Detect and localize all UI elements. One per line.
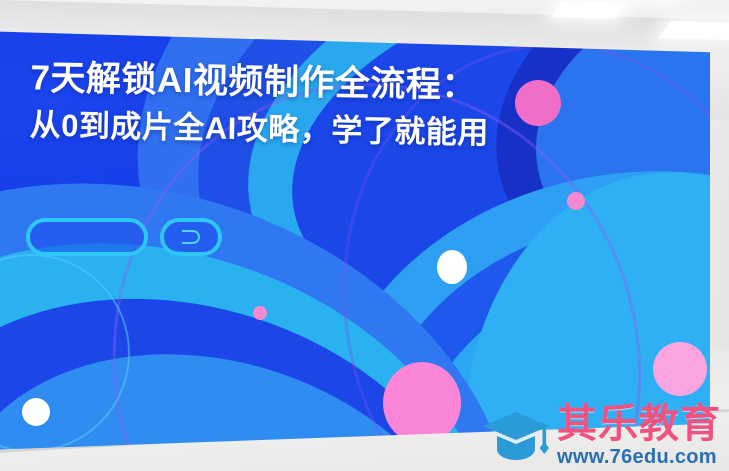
pink-circle-decoration	[653, 342, 707, 396]
pill-decoration-wide	[26, 218, 148, 256]
screenshot-stage: 7天解锁AI视频制作全流程： 从0到成片全AI攻略，学了就能用 其乐教育 www…	[0, 0, 729, 471]
arrow-glyph-icon	[182, 230, 200, 244]
pink-circle-decoration	[567, 192, 585, 210]
pink-circle-decoration	[515, 80, 561, 126]
ceiling-light-icon	[659, 21, 729, 40]
brand-url: www.76edu.com	[557, 447, 721, 467]
pink-circle-decoration	[253, 306, 267, 320]
pink-circle-decoration	[383, 362, 461, 444]
white-circle-decoration	[22, 398, 50, 426]
brand-name: 其乐教育	[557, 404, 721, 444]
watermark-text-block: 其乐教育 www.76edu.com	[557, 404, 721, 467]
wall-banner	[0, 22, 710, 454]
white-circle-decoration	[437, 250, 467, 284]
pill-decoration-small	[160, 218, 222, 256]
banner-artwork	[0, 22, 710, 454]
graduation-cap-icon	[481, 408, 551, 464]
ceiling-light-icon	[551, 1, 627, 18]
watermark-logo: 其乐教育 www.76edu.com	[481, 404, 721, 467]
